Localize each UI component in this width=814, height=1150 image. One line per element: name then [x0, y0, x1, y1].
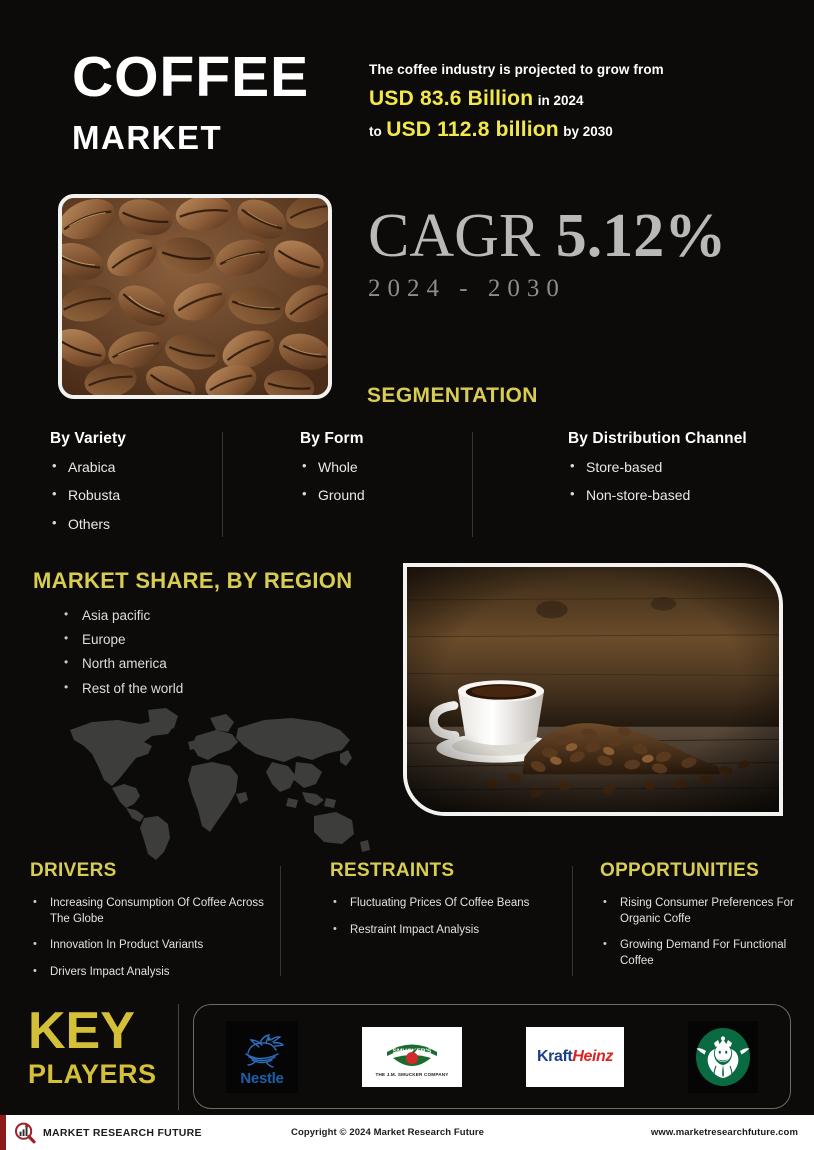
intro-line-3: to USD 112.8 billion by 2030 [369, 118, 789, 141]
world-map-silhouette [40, 700, 390, 865]
market-year-2030: by 2030 [563, 124, 613, 139]
page-subtitle: MARKET [72, 120, 309, 156]
driver-item: Innovation In Product Variants [30, 938, 275, 954]
segmentation-item: Non-store-based [568, 488, 798, 503]
intro-to-prefix: to [369, 124, 382, 139]
restraint-item: Fluctuating Prices Of Coffee Beans [330, 896, 565, 912]
restraint-item: Restraint Impact Analysis [330, 923, 565, 939]
footer-website-url[interactable]: www.marketresearchfuture.com [651, 1127, 798, 1138]
segmentation-title: SEGMENTATION [367, 384, 538, 408]
key-players-label-top: KEY [28, 1008, 178, 1056]
segmentation-item: Store-based [568, 460, 798, 475]
page-title: COFFEE [72, 50, 309, 104]
intro-line-1: The coffee industry is projected to grow… [369, 60, 789, 80]
key-players-label-bottom: PLAYERS [28, 1061, 178, 1088]
poster-title-block: COFFEE MARKET [72, 50, 309, 156]
footer: MARKET RESEARCH FUTURE Copyright © 2024 … [0, 1115, 814, 1150]
drivers-column: DRIVERS Increasing Consumption Of Coffee… [30, 860, 275, 991]
key-players-box: Nestle SMUCKER'S THE J.M. SMUCKER COMPAN… [193, 1004, 791, 1109]
coffee-beans-image [58, 194, 332, 399]
region-item: North america [58, 656, 358, 672]
segmentation-column-by-form: By Form Whole Ground [300, 430, 460, 517]
segmentation-item: Others [50, 517, 220, 532]
footer-brand[interactable]: MARKET RESEARCH FUTURE [14, 1122, 202, 1144]
opportunities-heading: OPPORTUNITIES [600, 860, 812, 882]
infographic-poster: COFFEE MARKET The coffee industry is pro… [0, 0, 814, 1150]
world-map [40, 700, 390, 865]
key-players-label: KEY PLAYERS [28, 1008, 178, 1088]
segmentation-heading: By Distribution Channel [568, 430, 798, 448]
segmentation-item: Whole [300, 460, 460, 475]
smuckers-emblem-icon: SMUCKER'S [379, 1036, 445, 1070]
coffee-cup-illustration [407, 567, 779, 812]
market-share-title: MARKET SHARE, BY REGION [33, 568, 352, 594]
coffee-beans-illustration [62, 198, 328, 395]
opportunity-item: Rising Consumer Preferences For Organic … [600, 896, 812, 927]
segmentation-heading: By Variety [50, 430, 220, 448]
footer-accent-bar [0, 1115, 6, 1150]
logo-cell-kraft-heinz[interactable]: KraftHeinz [526, 1027, 624, 1087]
key-players-logo-row: Nestle SMUCKER'S THE J.M. SMUCKER COMPAN… [194, 1005, 790, 1108]
nestle-bird-nest-icon [238, 1027, 286, 1069]
key-players-divider [178, 1004, 179, 1110]
footer-brand-text: MARKET RESEARCH FUTURE [43, 1127, 202, 1139]
segmentation-column-by-variety: By Variety Arabica Robusta Others [50, 430, 220, 545]
region-item: Europe [58, 632, 358, 648]
nestle-wordmark: Nestle [240, 1070, 283, 1087]
segmentation-columns: By Variety Arabica Robusta Others By For… [0, 430, 814, 545]
smuckers-logo: SMUCKER'S THE J.M. SMUCKER COMPANY [362, 1027, 462, 1087]
opportunities-column: OPPORTUNITIES Rising Consumer Preference… [600, 860, 812, 980]
intro-statement: The coffee industry is projected to grow… [369, 60, 789, 141]
segmentation-heading: By Form [300, 430, 460, 448]
logo-cell-smuckers[interactable]: SMUCKER'S THE J.M. SMUCKER COMPANY [362, 1027, 462, 1087]
nestle-logo: Nestle [226, 1021, 298, 1093]
logo-cell-nestle[interactable]: Nestle [226, 1021, 298, 1093]
drivers-heading: DRIVERS [30, 860, 275, 882]
opportunity-item: Growing Demand For Functional Coffee [600, 938, 812, 969]
region-item: Rest of the world [58, 681, 358, 697]
market-share-region-list: Asia pacific Europe North america Rest o… [58, 608, 358, 705]
restraints-column: RESTRAINTS Fluctuating Prices Of Coffee … [330, 860, 565, 949]
market-value-2030: USD 112.8 billion [386, 118, 559, 141]
starbucks-logo [688, 1021, 758, 1093]
logo-cell-starbucks[interactable] [688, 1021, 758, 1093]
segmentation-item: Ground [300, 488, 460, 503]
market-value-2024: USD 83.6 Billion [369, 87, 533, 110]
cagr-block: CAGR 5.12% 2024 - 2030 [368, 205, 726, 303]
footer-copyright: Copyright © 2024 Market Research Future [291, 1127, 484, 1138]
market-year-2024: in 2024 [538, 93, 584, 108]
kraft-heinz-wordmark: KraftHeinz [537, 1048, 613, 1066]
cagr-period: 2024 - 2030 [368, 275, 726, 303]
region-item: Asia pacific [58, 608, 358, 624]
dro-columns: DRIVERS Increasing Consumption Of Coffee… [0, 860, 814, 995]
segmentation-item: Robusta [50, 488, 220, 503]
kraft-wordmark: Kraft [537, 1048, 572, 1065]
coffee-cup-image [403, 563, 783, 816]
intro-line-2: USD 83.6 Billion in 2024 [369, 87, 789, 110]
cagr-value-row: CAGR 5.12% [368, 205, 726, 267]
market-research-future-logo-icon [14, 1122, 36, 1144]
segmentation-item: Arabica [50, 460, 220, 475]
cagr-value: 5.12% [556, 202, 727, 270]
heinz-wordmark: Heinz [572, 1048, 613, 1065]
restraints-heading: RESTRAINTS [330, 860, 565, 882]
starbucks-siren-icon [692, 1026, 754, 1088]
driver-item: Increasing Consumption Of Coffee Across … [30, 896, 275, 927]
cagr-label: CAGR [368, 202, 540, 270]
segmentation-column-by-distribution-channel: By Distribution Channel Store-based Non-… [568, 430, 798, 517]
driver-item: Drivers Impact Analysis [30, 965, 275, 981]
kraft-heinz-logo: KraftHeinz [526, 1027, 624, 1087]
smuckers-subtext: THE J.M. SMUCKER COMPANY [375, 1072, 448, 1077]
